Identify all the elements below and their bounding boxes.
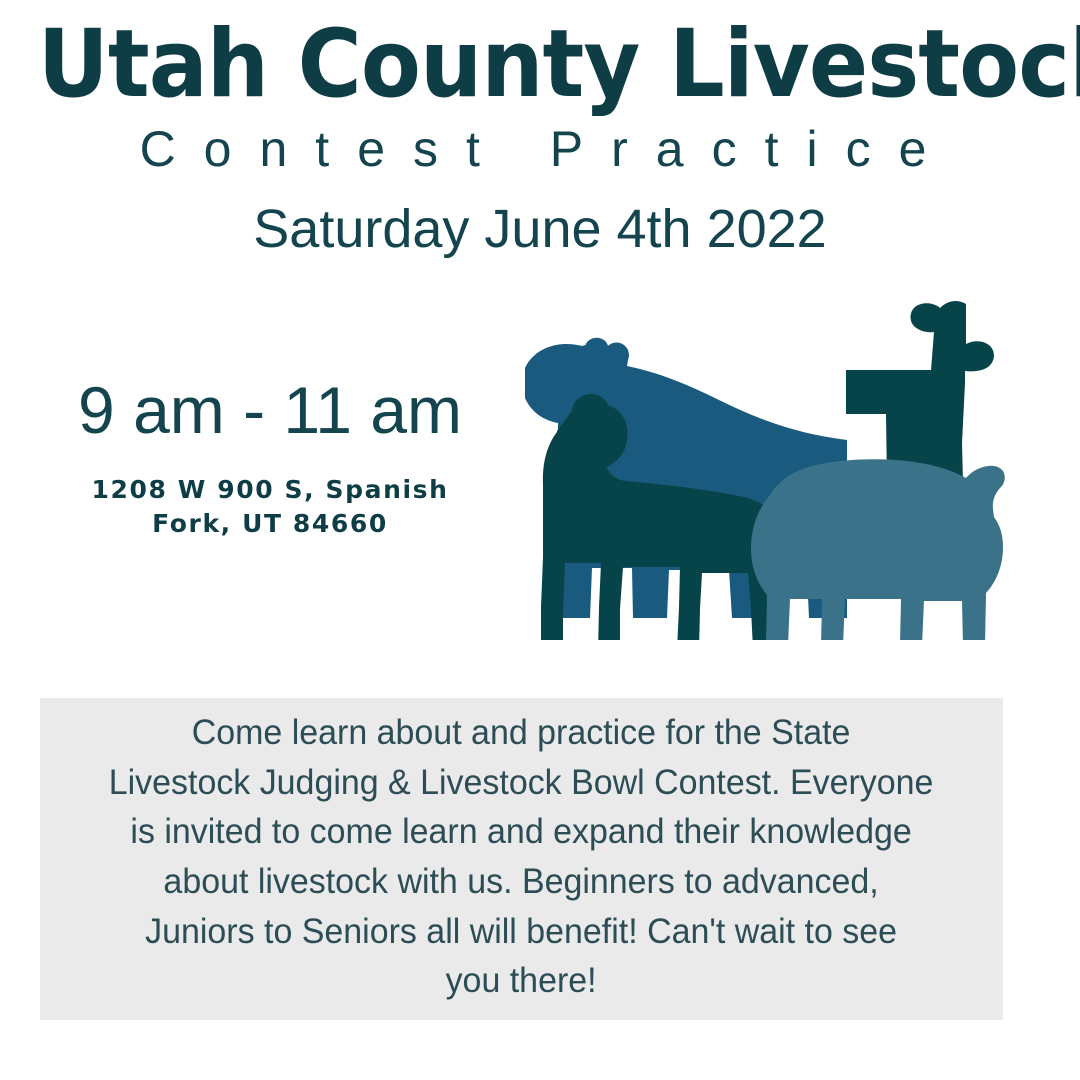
description-panel: Come learn about and practice for the St…	[40, 698, 1003, 1020]
header-block: Utah County Livestock Contest Practice S…	[0, 0, 1080, 256]
pig-silhouette	[751, 459, 1005, 640]
event-time: 9 am - 11 am	[40, 376, 500, 445]
page-title: Utah County Livestock	[38, 18, 1042, 112]
poster-flyer: Utah County Livestock Contest Practice S…	[0, 0, 1080, 1080]
description-text: Come learn about and practice for the St…	[109, 708, 934, 1006]
event-date: Saturday June 4th 2022	[0, 202, 1080, 256]
livestock-silhouettes-graphic	[525, 300, 1035, 640]
event-address: 1208 W 900 S, Spanish Fork, UT 84660	[40, 473, 500, 541]
page-subtitle: Contest Practice	[14, 124, 1080, 174]
event-details-block: 9 am - 11 am 1208 W 900 S, Spanish Fork,…	[40, 376, 500, 541]
